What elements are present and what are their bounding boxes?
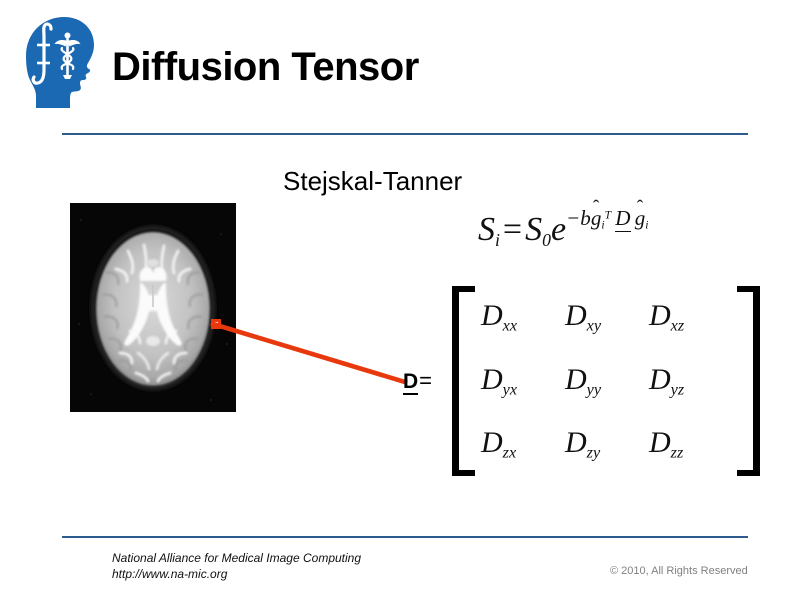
matrix-cell-00-sub: xx (503, 317, 517, 335)
exponent-b: b (580, 206, 591, 230)
matrix-cell-01: Dxy (563, 299, 647, 336)
header-divider (62, 133, 748, 135)
matrix-cell-11: Dyy (563, 363, 647, 400)
matrix-cell-20-base: D (481, 426, 503, 459)
matrix-cell-02: Dxz (647, 299, 731, 336)
equation-rhs-subscript: 0 (542, 230, 551, 250)
exponent-g2: ˆg (635, 208, 646, 229)
matrix-cell-10-sub: yx (503, 380, 517, 398)
matrix-cell-01-sub: xy (587, 317, 601, 335)
exponent-g1-superscript: T (605, 209, 611, 222)
matrix-cell-21-base: D (565, 426, 587, 459)
exponent-minus: − (566, 206, 580, 230)
matrix-cell-20: Dzx (479, 426, 563, 463)
na-mic-head-logo-icon (18, 12, 102, 112)
footer-organization: National Alliance for Medical Image Comp… (112, 550, 361, 582)
matrix-cell-00: Dxx (479, 299, 563, 336)
stejskal-tanner-equation: Si=S0e−bˆgiT D ˆgi (478, 208, 649, 250)
matrix-cell-21: Dzy (563, 426, 647, 463)
matrix-cell-21-sub: zy (587, 444, 600, 462)
tensor-d-label: D= (403, 368, 432, 394)
matrix-cell-22-sub: zz (671, 444, 684, 462)
footer-divider (62, 536, 748, 538)
equation-rhs-symbol: S (525, 211, 542, 248)
matrix-cell-00-base: D (481, 299, 503, 332)
matrix-grid: Dxx Dxy Dxz Dyx Dyy Dyz Dzx Dzy Dzz (475, 286, 737, 476)
na-mic-logo (18, 12, 102, 112)
exponent-g2-subscript: i (645, 218, 648, 231)
matrix-cell-01-base: D (565, 299, 587, 332)
matrix-cell-12-sub: yz (671, 380, 684, 398)
exponent-tensor-D: D (615, 206, 630, 232)
matrix-cell-20-sub: zx (503, 444, 516, 462)
axial-brain-mri-image (70, 203, 236, 412)
equation-equals: = (500, 211, 525, 248)
footer-org-url[interactable]: http://www.na-mic.org (112, 566, 361, 582)
voxel-marker-icon (211, 319, 221, 329)
brain-mri-graphic (70, 203, 236, 412)
page-title: Diffusion Tensor (112, 45, 419, 90)
diffusion-tensor-matrix: Dxx Dxy Dxz Dyx Dyy Dyz Dzx Dzy Dzz (452, 286, 760, 476)
matrix-cell-22: Dzz (647, 426, 731, 463)
matrix-bracket-left (452, 286, 475, 476)
matrix-cell-12-base: D (649, 363, 671, 396)
matrix-cell-10-base: D (481, 363, 503, 396)
matrix-cell-02-base: D (649, 299, 671, 332)
tensor-d-equals: = (419, 368, 432, 393)
hat-accent-1: ˆ (593, 198, 599, 217)
equation-lhs-symbol: S (478, 211, 495, 248)
equation-exp-base: e (551, 211, 566, 248)
leader-arrow-line (205, 310, 415, 395)
hat-accent-2: ˆ (637, 198, 643, 217)
slide-canvas: Diffusion Tensor Stejskal-Tanner (0, 0, 800, 600)
matrix-bracket-right (737, 286, 760, 476)
matrix-cell-22-base: D (649, 426, 671, 459)
tensor-d-symbol: D (403, 370, 418, 395)
footer-org-line1: National Alliance for Medical Image Comp… (112, 550, 361, 566)
matrix-cell-11-sub: yy (587, 380, 601, 398)
subtitle-stejskal-tanner: Stejskal-Tanner (283, 166, 462, 197)
footer-copyright: © 2010, All Rights Reserved (610, 565, 748, 577)
matrix-cell-10: Dyx (479, 363, 563, 400)
equation-exponent: −bˆgiT D ˆgi (566, 206, 648, 230)
matrix-cell-12: Dyz (647, 363, 731, 400)
matrix-cell-02-sub: xz (671, 317, 684, 335)
matrix-cell-11-base: D (565, 363, 587, 396)
exponent-g1: ˆg (591, 208, 602, 229)
